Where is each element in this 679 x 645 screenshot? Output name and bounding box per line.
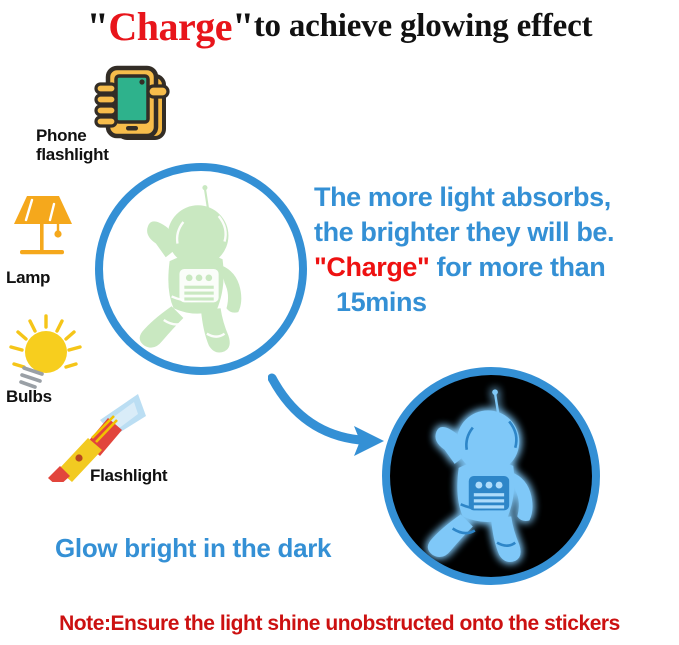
message-quote-close: " (417, 252, 429, 282)
title-charge-word: Charge (108, 3, 232, 50)
title-quote-close: " (232, 3, 254, 50)
message-quote-open: " (314, 252, 326, 282)
light-bulb-icon (2, 310, 84, 392)
page-title: "Charge"to achieve glowing effect (0, 0, 679, 52)
astronaut-sticker-lit-circle (95, 163, 307, 375)
lamp-label: Lamp (6, 268, 96, 287)
phone-flashlight-label: Phone flashlight (36, 126, 146, 164)
glow-caption: Glow bright in the dark (55, 533, 395, 564)
message-line-4: 15mins (314, 285, 679, 320)
message-block: The more light absorbs, the brighter the… (314, 180, 679, 320)
message-charge-word: Charge (326, 252, 417, 282)
note-text: Note:Ensure the light shine unobstructed… (0, 612, 679, 636)
message-line-2: the brighter they will be. (314, 217, 614, 247)
desk-lamp-icon (4, 190, 82, 262)
infographic-canvas: "Charge"to achieve glowing effect Phone … (0, 0, 679, 645)
astronaut-sticker-glowing-circle (382, 367, 600, 585)
message-line-1: The more light absorbs, (314, 182, 611, 212)
title-quote-open: " (87, 3, 109, 50)
flashlight-label: Flashlight (90, 466, 210, 485)
message-line-3-rest: for more than (429, 252, 605, 282)
title-rest: to achieve glowing effect (254, 8, 593, 45)
